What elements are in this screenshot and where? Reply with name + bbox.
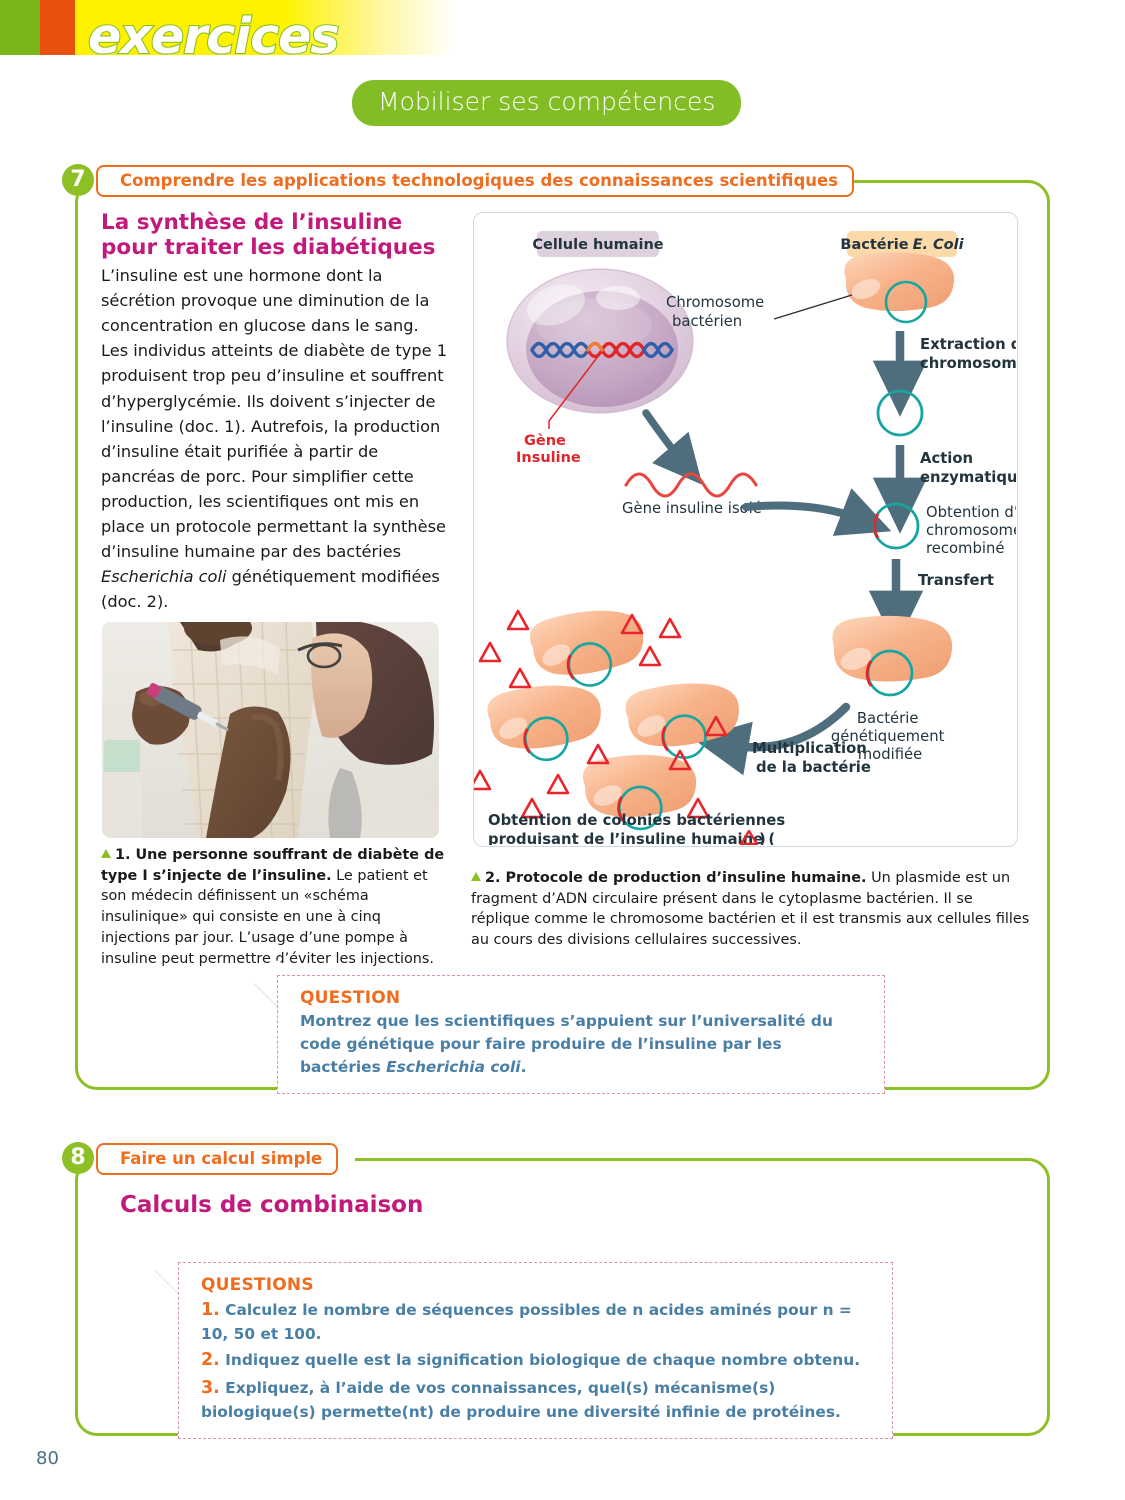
question-text-7-part2: . xyxy=(521,1058,527,1076)
exercise-8-heading: Calculs de combinaison xyxy=(120,1192,423,1218)
photo-illustration xyxy=(102,622,439,838)
questions-header-8: QUESTIONS xyxy=(201,1275,872,1295)
label-transfert: Transfert xyxy=(918,572,994,589)
question-text-7-species: Escherichia coli xyxy=(386,1058,520,1076)
label-gene-isole: Gène insuline isolé xyxy=(622,500,762,517)
question-8-text-1: Calculez le nombre de séquences possible… xyxy=(201,1301,852,1343)
question-text-7: Montrez que les scientifiques s’appuient… xyxy=(300,1010,864,1079)
label-gene-insuline: Gène Insuline xyxy=(516,433,581,466)
extracted-plasmid xyxy=(878,391,922,435)
label-bacteria-text: BactérieE. Coli xyxy=(840,237,964,253)
arrow-gene-to-plasmid xyxy=(746,506,860,520)
question-box-8: QUESTIONS 1. Calculez le nombre de séque… xyxy=(178,1262,893,1439)
figure-2-caption-bold: 2. Protocole de production d’insuline hu… xyxy=(485,870,867,886)
bacteria-colony xyxy=(485,604,743,832)
question-header-7: QUESTION xyxy=(300,988,864,1008)
question-8-number-2: 2. xyxy=(201,1350,220,1370)
figure-1-caption: 1. Une personne souffrant de diabète de … xyxy=(101,845,453,969)
competence-tab: Mobiliser ses compétences xyxy=(352,80,741,126)
label-colonies-paren: ) xyxy=(759,831,766,845)
diagram-svg: Cellule humaine BactérieE. Coli xyxy=(474,213,1016,845)
header-accent-bar-orange xyxy=(40,0,75,55)
question-8-item-2: 2. Indiquez quelle est la signification … xyxy=(201,1347,872,1373)
header-accent-bar-green xyxy=(0,0,40,55)
human-cell-illustration xyxy=(507,269,693,429)
question-8-text-3: Expliquez, à l’aide de vos connaissances… xyxy=(201,1379,841,1421)
recombined-plasmid xyxy=(874,504,918,548)
insulin-injection-photo xyxy=(102,622,439,838)
bacteria-gm xyxy=(832,616,952,695)
exercise-8-title: Faire un calcul simple xyxy=(96,1143,338,1175)
label-human-cell-text: Cellule humaine xyxy=(532,237,663,253)
exercise-7-lead-title: La synthèse de l’insuline pour traiter l… xyxy=(101,210,451,260)
question-8-number-3: 3. xyxy=(201,1378,220,1398)
label-extraction: Extraction du chromosome xyxy=(920,336,1016,372)
isolated-gene-wave xyxy=(626,474,756,496)
bacteria-original xyxy=(844,252,954,322)
exercise-7-lead-body: L’insuline est une hormone dont la sécré… xyxy=(101,263,449,615)
label-recombine: Obtention d’un chromosome recombiné xyxy=(926,504,1016,557)
exercise-7-title: Comprendre les applications technologiqu… xyxy=(96,165,854,197)
insulin-protocol-diagram: Cellule humaine BactérieE. Coli xyxy=(473,212,1018,847)
question-8-text-2: Indiquez quelle est la signification bio… xyxy=(220,1351,860,1369)
question-box-7: QUESTION Montrez que les scientifiques s… xyxy=(277,975,885,1094)
label-multiplication: Multiplication de la bactérie xyxy=(752,740,872,776)
figure-2-caption: 2. Protocole de production d’insuline hu… xyxy=(471,868,1031,951)
chromosome-pointer-line xyxy=(774,295,852,319)
lead-body-part1: L’insuline est une hormone dont la sécré… xyxy=(101,266,447,561)
exercise-8-number: 8 xyxy=(62,1142,94,1174)
question-text-7-part1: Montrez que les scientifiques s’appuient… xyxy=(300,1012,833,1076)
page-title: exercices xyxy=(88,8,339,65)
label-action-enzymatique: Action enzymatique xyxy=(920,450,1016,486)
textbook-page: exercices Mobiliser ses compétences 7 Co… xyxy=(0,0,1125,1500)
label-colonies: Obtention de colonies bactériennes produ… xyxy=(488,812,790,845)
question-8-item-3: 3. Expliquez, à l’aide de vos connaissan… xyxy=(201,1375,872,1424)
arrow-cell-to-gene xyxy=(646,413,682,461)
question-8-item-1: 1. Calculez le nombre de séquences possi… xyxy=(201,1297,872,1346)
exercise-7-number: 7 xyxy=(62,164,94,196)
lead-body-species: Escherichia coli xyxy=(101,567,226,586)
caption-triangle-icon xyxy=(471,872,481,881)
question-8-number-1: 1. xyxy=(201,1300,220,1320)
caption-triangle-icon xyxy=(101,849,111,858)
page-number: 80 xyxy=(36,1448,59,1469)
